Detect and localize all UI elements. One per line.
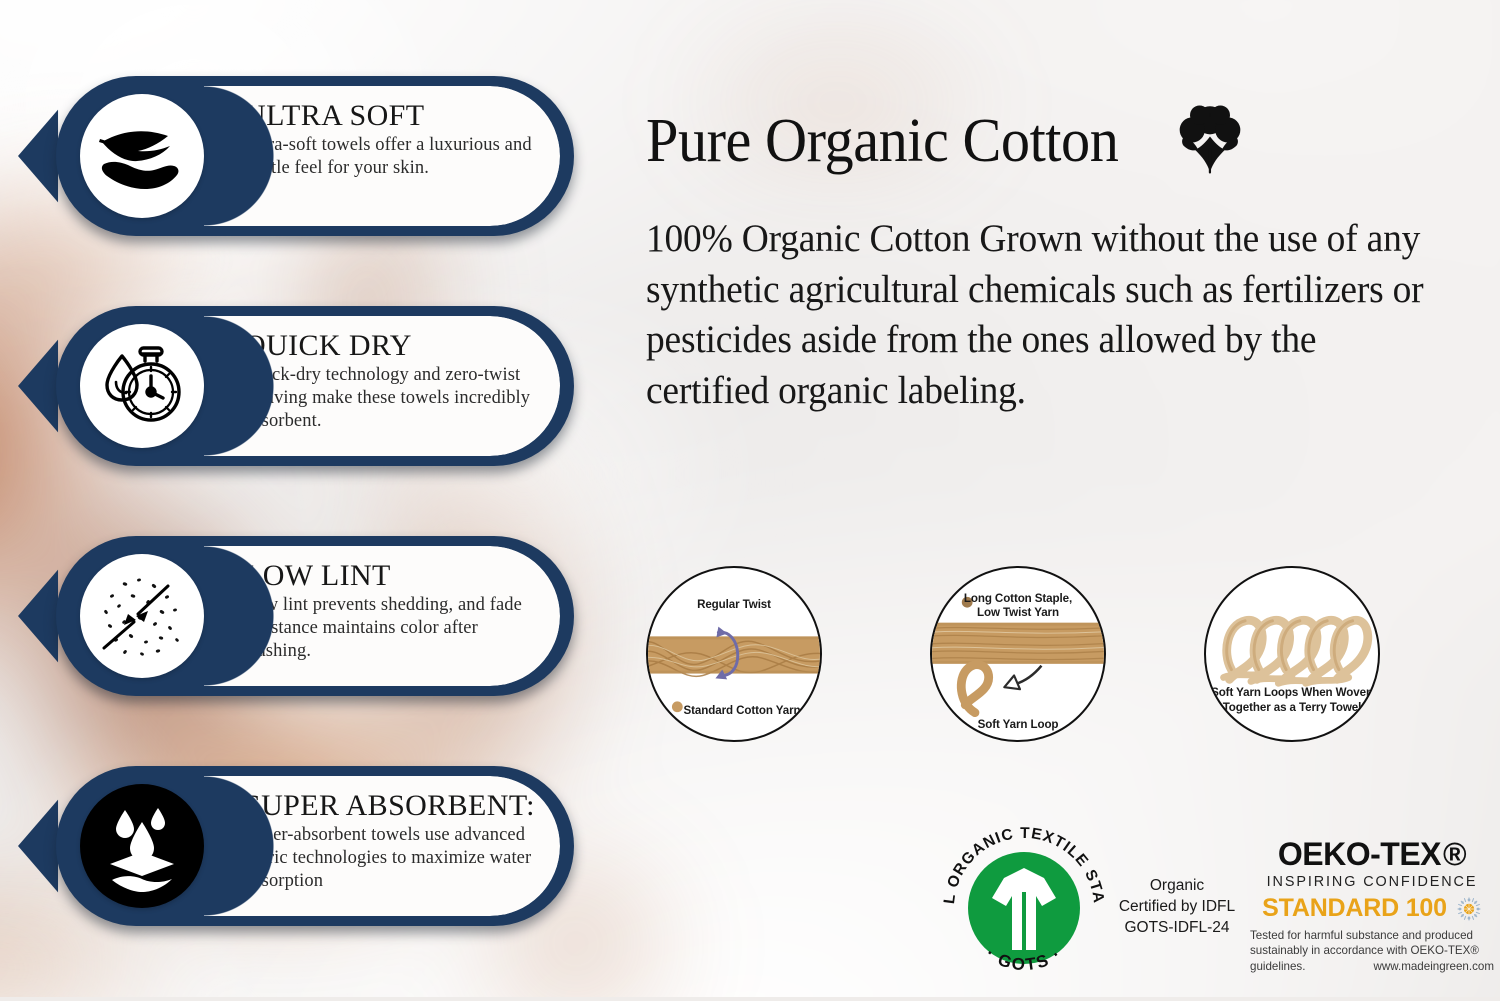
oeko-fine-print-line-2: sustainably in accordance with OEKO-TEX® [1250, 943, 1494, 958]
yarn-caption-line2: Together as a Terry Towel [1206, 701, 1378, 715]
hero-headline: Pure Organic Cotton [646, 104, 1247, 178]
feature-body: Quick-dry technology and zero-twist weav… [244, 364, 534, 433]
oeko-tex-tagline: INSPIRING CONFIDENCE [1250, 874, 1494, 890]
water-absorption-icon [80, 784, 204, 908]
feature-title: ULTRA SOFT [244, 100, 534, 131]
yarn-diagram-low-twist: Long Cotton Staple, Low Twist Yarn Soft … [930, 566, 1106, 742]
feature-body: Ultra-soft towels offer a luxurious and … [244, 134, 534, 180]
yarn-top-label-line2: Low Twist Yarn [932, 606, 1104, 620]
yarn-bottom-label: Soft Yarn Loop [932, 718, 1104, 732]
idfl-line-1: Organic [1112, 876, 1242, 897]
oeko-tex-brand: OEKO-TEX [1278, 838, 1441, 870]
cotton-boll-icon [1173, 104, 1247, 178]
certification-group: GLOBAL ORGANIC TEXTILE STANDARD · GOTS ·… [936, 818, 1488, 986]
feather-in-hand-icon [80, 94, 204, 218]
feature-body: Super-absorbent towels use advanced fabr… [244, 824, 534, 893]
feature-panel: QUICK DRY Quick-dry technology and zero-… [204, 316, 560, 456]
feature-panel: SUPER ABSORBENT: Super-absorbent towels … [204, 776, 560, 916]
oeko-website: www.madeingreen.com [1374, 959, 1495, 974]
gots-seal-icon: GLOBAL ORGANIC TEXTILE STANDARD · GOTS · [936, 820, 1112, 996]
feature-title: SUPER ABSORBENT: [244, 790, 534, 821]
idfl-line-2: Certified by IDFL [1112, 897, 1242, 918]
feature-panel: ULTRA SOFT Ultra-soft towels offer a lux… [204, 86, 560, 226]
feature-body: Low lint prevents shedding, and fade res… [244, 594, 534, 663]
lint-particles-icon [80, 554, 204, 678]
droplet-stopwatch-icon [80, 324, 204, 448]
yarn-bottom-label: Standard Cotton Yarn [648, 704, 820, 718]
yarn-diagram-group: Regular Twist Standard Cotton Yarn [646, 566, 1386, 744]
feature-card-ultra-soft: ULTRA SOFT Ultra-soft towels offer a lux… [18, 76, 574, 236]
yarn-diagram-terry-loops: Soft Yarn Loops When Woven Together as a… [1204, 566, 1380, 742]
yarn-diagram-regular-twist: Regular Twist Standard Cotton Yarn [646, 566, 822, 742]
feature-title: QUICK DRY [244, 330, 534, 361]
oeko-fine-print-line-1: Tested for harmful substance and produce… [1250, 928, 1494, 943]
yarn-top-label: Regular Twist [648, 598, 820, 612]
feature-card-quick-dry: QUICK DRY Quick-dry technology and zero-… [18, 306, 574, 466]
oeko-fine-print-line-3: guidelines. [1250, 959, 1305, 974]
idfl-line-3: GOTS-IDFL-24 [1112, 918, 1242, 939]
oeko-tex-badge: OEKO-TEX ® INSPIRING CONFIDENCE STANDARD… [1250, 838, 1494, 974]
oeko-tex-standard: STANDARD 100 [1262, 894, 1447, 923]
yarn-caption-line1: Soft Yarn Loops When Woven [1206, 686, 1378, 700]
feature-card-super-absorbent: SUPER ABSORBENT: Super-absorbent towels … [18, 766, 574, 926]
feature-title: LOW LINT [244, 560, 534, 591]
made-in-green-sunburst-icon [1456, 896, 1482, 922]
yarn-top-label-line1: Long Cotton Staple, [932, 592, 1104, 606]
idfl-certification-text: Organic Certified by IDFL GOTS-IDFL-24 [1112, 876, 1242, 939]
feature-card-low-lint: LOW LINT Low lint prevents shedding, and… [18, 536, 574, 696]
feature-panel: LOW LINT Low lint prevents shedding, and… [204, 546, 560, 686]
registered-mark-icon: ® [1443, 838, 1466, 870]
hero-paragraph: 100% Organic Cotton Grown without the us… [646, 214, 1439, 417]
page-title: Pure Organic Cotton [646, 110, 1118, 172]
